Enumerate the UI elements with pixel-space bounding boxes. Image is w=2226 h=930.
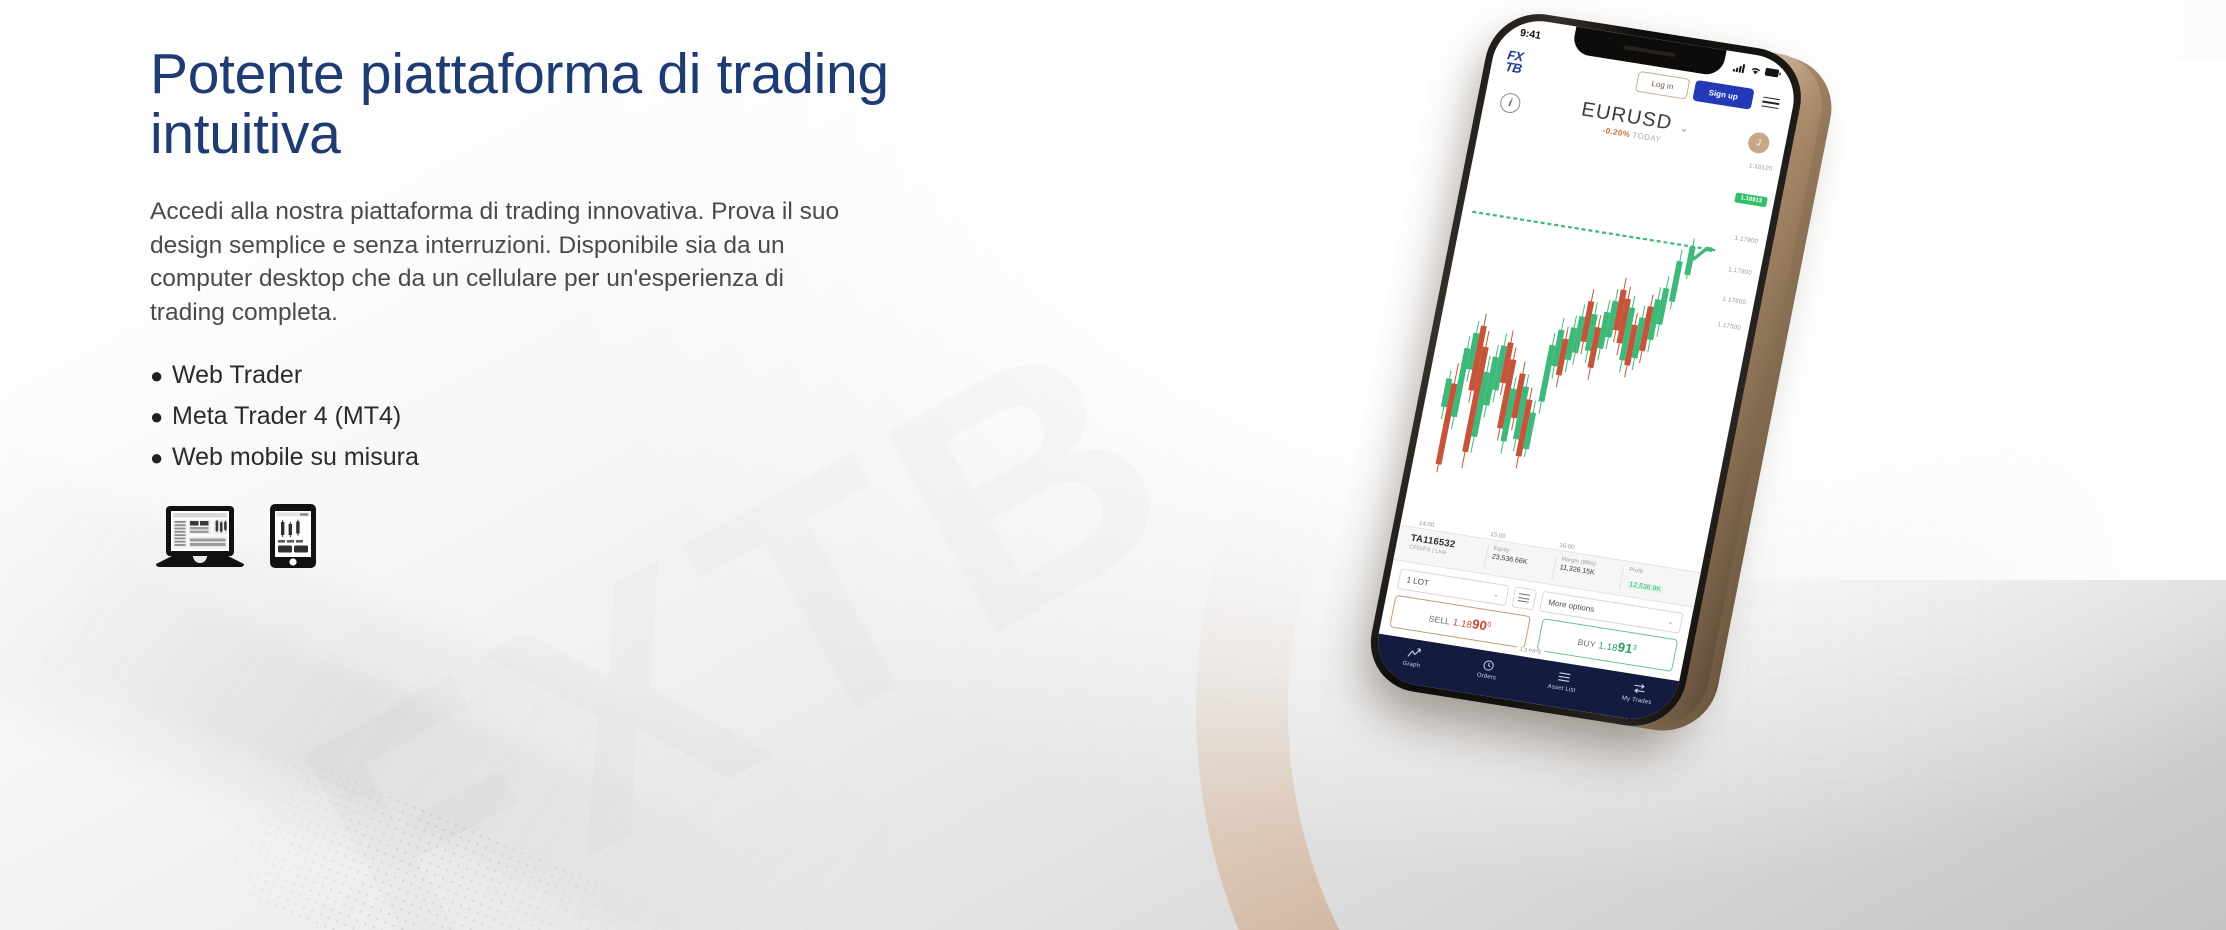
- price-chart[interactable]: 1.18120 1.18000 1.17900 1.17800 1.17600 …: [1404, 122, 1776, 572]
- chevron-down-icon: ⌄: [1679, 123, 1689, 135]
- phone-shadow: [1365, 41, 1814, 751]
- hero-banner: FXTB Potente piattaforma di trading intu…: [0, 0, 2226, 930]
- change-value: -0.20%: [1602, 126, 1631, 139]
- wifi-icon: [1750, 65, 1763, 76]
- list-item: ● Web Trader: [150, 356, 910, 395]
- page-title: Potente piattaforma di trading intuitiva: [150, 44, 910, 165]
- status-bar: 9:41: [1496, 15, 1802, 88]
- ribbon-ticker: 3.2188: [1624, 114, 1717, 168]
- fxtb-logo[interactable]: FX TB: [1504, 49, 1525, 75]
- hero-description: Accedi alla nostra piattaforma di tradin…: [150, 195, 855, 330]
- feature-list: ● Web Trader ● Meta Trader 4 (MT4) ● Web…: [150, 356, 910, 476]
- signal-bars-icon: [1733, 62, 1748, 73]
- tab-label: Graph: [1402, 661, 1421, 670]
- clock-icon: [1450, 652, 1528, 677]
- hero-graphic: 61% 3.7488 3.2188 2.11% 1.00 -5.3: [1026, 0, 2226, 930]
- background-circuit-texture: [1566, 490, 1986, 810]
- symbol-name: EURUSD: [1580, 98, 1675, 134]
- tab-label: Asset List: [1547, 684, 1576, 694]
- buy-price-main: 91: [1616, 639, 1634, 656]
- phone-mockup: 9:41: [1335, 0, 1898, 804]
- account-metric: Margin (88%) 11,326.15K: [1551, 555, 1624, 589]
- time-tick: 16:00: [1559, 542, 1576, 551]
- tab-label: Orders: [1476, 672, 1496, 681]
- buy-price-pip: 3: [1632, 644, 1637, 652]
- ribbon-arc: [1156, 80, 2226, 930]
- brand-line-1: FX: [1506, 49, 1524, 63]
- status-time: 9:41: [1519, 27, 1542, 42]
- price-tick: 1.17600: [1722, 295, 1747, 306]
- ribbon-ticker: 3.7488: [1599, 34, 1696, 93]
- buy-button[interactable]: BUY 1.18913: [1536, 618, 1678, 672]
- order-controls: 1 LOT ⌄ More options ⌄: [1387, 560, 1694, 639]
- ribbon-ticker: 61%: [1430, 62, 1498, 116]
- bottom-nav: Graph Orders Asset List: [1370, 634, 1679, 726]
- tab-orders[interactable]: Orders: [1448, 652, 1527, 685]
- phone-screen: 9:41: [1370, 15, 1802, 726]
- phone-rail-back: [1393, 16, 1841, 739]
- price-tick: 1.17900: [1734, 235, 1759, 246]
- bullet-icon: ●: [150, 359, 172, 393]
- time-tick: 14:00: [1418, 520, 1435, 529]
- list-item: ● Web mobile su misura: [150, 438, 910, 477]
- calculator-icon[interactable]: [1511, 586, 1537, 610]
- account-identity: TA116532 CFD/FX | Live: [1402, 532, 1488, 568]
- app-bar: FX TB Log in Sign up: [1489, 40, 1796, 123]
- list-icon: [1525, 664, 1603, 689]
- price-tick: 1.18000: [1741, 197, 1766, 208]
- login-button[interactable]: Log in: [1635, 71, 1690, 100]
- metric-label: Equity: [1493, 546, 1551, 561]
- deal-buttons: SELL 1.18900 BUY 1.18913 1.3 PIPS: [1379, 591, 1688, 681]
- platform-icons: [156, 504, 910, 568]
- metric-value: 11,326.15K: [1559, 564, 1617, 580]
- metric-label: Margin (88%): [1561, 556, 1619, 571]
- tab-my-trades[interactable]: My Trades: [1598, 676, 1677, 709]
- tab-graph[interactable]: Graph: [1373, 640, 1452, 673]
- auth-actions: Log in Sign up: [1635, 71, 1782, 114]
- metric-label: Profit: [1629, 567, 1687, 582]
- background-dot-texture: [171, 724, 708, 930]
- mobile-platform-icon: [268, 504, 318, 568]
- laptop-platform-icon: [156, 506, 244, 568]
- sell-price-prefix: 1.18: [1452, 617, 1473, 631]
- feature-label: Meta Trader 4 (MT4): [172, 397, 401, 436]
- ribbon-ticker: 2.11%: [1346, 124, 1440, 201]
- time-tick: 15:00: [1489, 531, 1506, 540]
- tab-label: My Trades: [1621, 695, 1652, 706]
- ticker-ribbon: 61% 3.7488 3.2188 2.11% 1.00 -5.3: [1026, 0, 2226, 930]
- account-type: CFD/FX | Live: [1408, 544, 1480, 561]
- phone-notch: [1571, 26, 1726, 76]
- feature-label: Web Trader: [172, 356, 302, 395]
- background-streak-secondary: [38, 551, 781, 930]
- buy-price-prefix: 1.18: [1597, 640, 1618, 654]
- earpiece-speaker: [1623, 45, 1675, 57]
- account-metric: Profit 12,536.9K: [1619, 566, 1692, 600]
- list-item: ● Meta Trader 4 (MT4): [150, 397, 910, 436]
- trades-icon: [1600, 676, 1678, 701]
- ribbon-down-triangle-icon: [1533, 78, 1565, 106]
- signup-button[interactable]: Sign up: [1692, 80, 1755, 110]
- feature-label: Web mobile su misura: [172, 438, 419, 477]
- more-options-label: More options: [1548, 598, 1595, 614]
- account-summary[interactable]: TA116532 CFD/FX | Live Equity 23,536.66K…: [1393, 525, 1700, 608]
- change-period: TODAY: [1632, 131, 1662, 144]
- ribbon-down-triangle-icon: [1542, 185, 1567, 207]
- phone-rail-mid: [1384, 12, 1832, 735]
- account-metric: Equity 23,536.66K: [1483, 545, 1556, 579]
- lot-size-select[interactable]: 1 LOT ⌄: [1397, 568, 1509, 606]
- avatar[interactable]: J: [1746, 131, 1771, 155]
- symbol-header: i EURUSD ⌄ -0.20% TODAY J: [1481, 75, 1790, 165]
- sell-price-pip: 0: [1487, 621, 1492, 629]
- battery-icon: [1764, 68, 1781, 78]
- graph-icon: [1375, 640, 1453, 665]
- chevron-down-icon: ⌄: [1493, 590, 1500, 599]
- phone-body: 9:41: [1362, 7, 1810, 734]
- account-id: TA116532: [1410, 533, 1483, 555]
- metric-value: 23,536.66K: [1491, 553, 1549, 569]
- metric-value: 12,536.9K: [1626, 581, 1665, 594]
- sell-label: SELL: [1428, 613, 1451, 626]
- buy-label: BUY: [1577, 637, 1597, 650]
- sell-button[interactable]: SELL 1.18900: [1389, 595, 1531, 649]
- chevron-down-icon: ⌄: [1667, 617, 1674, 626]
- sell-price-main: 90: [1471, 616, 1489, 633]
- info-icon[interactable]: i: [1498, 92, 1522, 115]
- ribbon-ticker: 1.00: [1210, 240, 1284, 317]
- price-tick: 1.18120: [1748, 162, 1773, 173]
- price-tick: 1.17500: [1717, 321, 1742, 332]
- symbol-change: -0.20% TODAY: [1517, 112, 1747, 157]
- hamburger-menu-icon[interactable]: [1761, 96, 1780, 109]
- symbol-selector[interactable]: EURUSD ⌄ -0.20% TODAY: [1517, 89, 1752, 158]
- live-price-tag: 1.18913: [1735, 192, 1768, 207]
- lot-size-value: 1 LOT: [1406, 575, 1430, 587]
- spread-label: 1.3 PIPS: [1516, 646, 1545, 656]
- candlestick-svg: [1404, 122, 1776, 572]
- bullet-icon: ●: [150, 441, 172, 475]
- brand-line-2: TB: [1504, 61, 1522, 75]
- hero-copy: Potente piattaforma di trading intuitiva…: [150, 44, 910, 568]
- more-options-select[interactable]: More options ⌄: [1539, 591, 1684, 634]
- bullet-icon: ●: [150, 400, 172, 434]
- status-icons: [1733, 62, 1782, 78]
- price-tick: 1.17800: [1728, 266, 1753, 277]
- tab-asset-list[interactable]: Asset List: [1523, 664, 1602, 697]
- ribbon-fade-overlay: [1646, 60, 2226, 580]
- ribbon-ticker: -5.3: [1166, 344, 1221, 407]
